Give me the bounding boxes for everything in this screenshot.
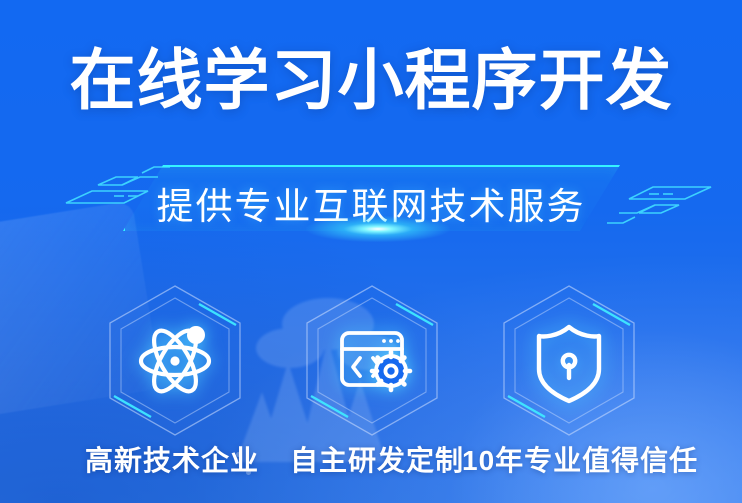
hexagon-frame-3: [489, 283, 649, 438]
atom-icon: [141, 325, 209, 398]
promo-banner: 在线学习小程序开发 提供专业互联网技术服务: [0, 0, 742, 503]
feature-label-2: 自主研发定制: [290, 439, 464, 479]
feature-icon-row: [0, 283, 742, 438]
hexagon-frame-1: [95, 283, 255, 438]
shield-lock-icon: [539, 327, 599, 401]
feature-item-3[interactable]: [489, 283, 649, 438]
feature-item-1[interactable]: [95, 283, 255, 438]
feature-label-3: 10年专业值得信任: [462, 439, 698, 479]
subtitle-banner: 提供专业互联网技术服务: [0, 163, 742, 241]
feature-item-2[interactable]: [292, 283, 452, 438]
code-window-gear-icon: [342, 333, 410, 390]
feature-label-1: 高新技术企业: [85, 439, 259, 479]
banner-flare-glow: [306, 216, 450, 242]
feature-label-row: 高新技术企业 自主研发定制 10年专业值得信任: [0, 439, 742, 485]
hexagon-frame-2: [292, 283, 452, 438]
page-title: 在线学习小程序开发: [0, 46, 742, 115]
